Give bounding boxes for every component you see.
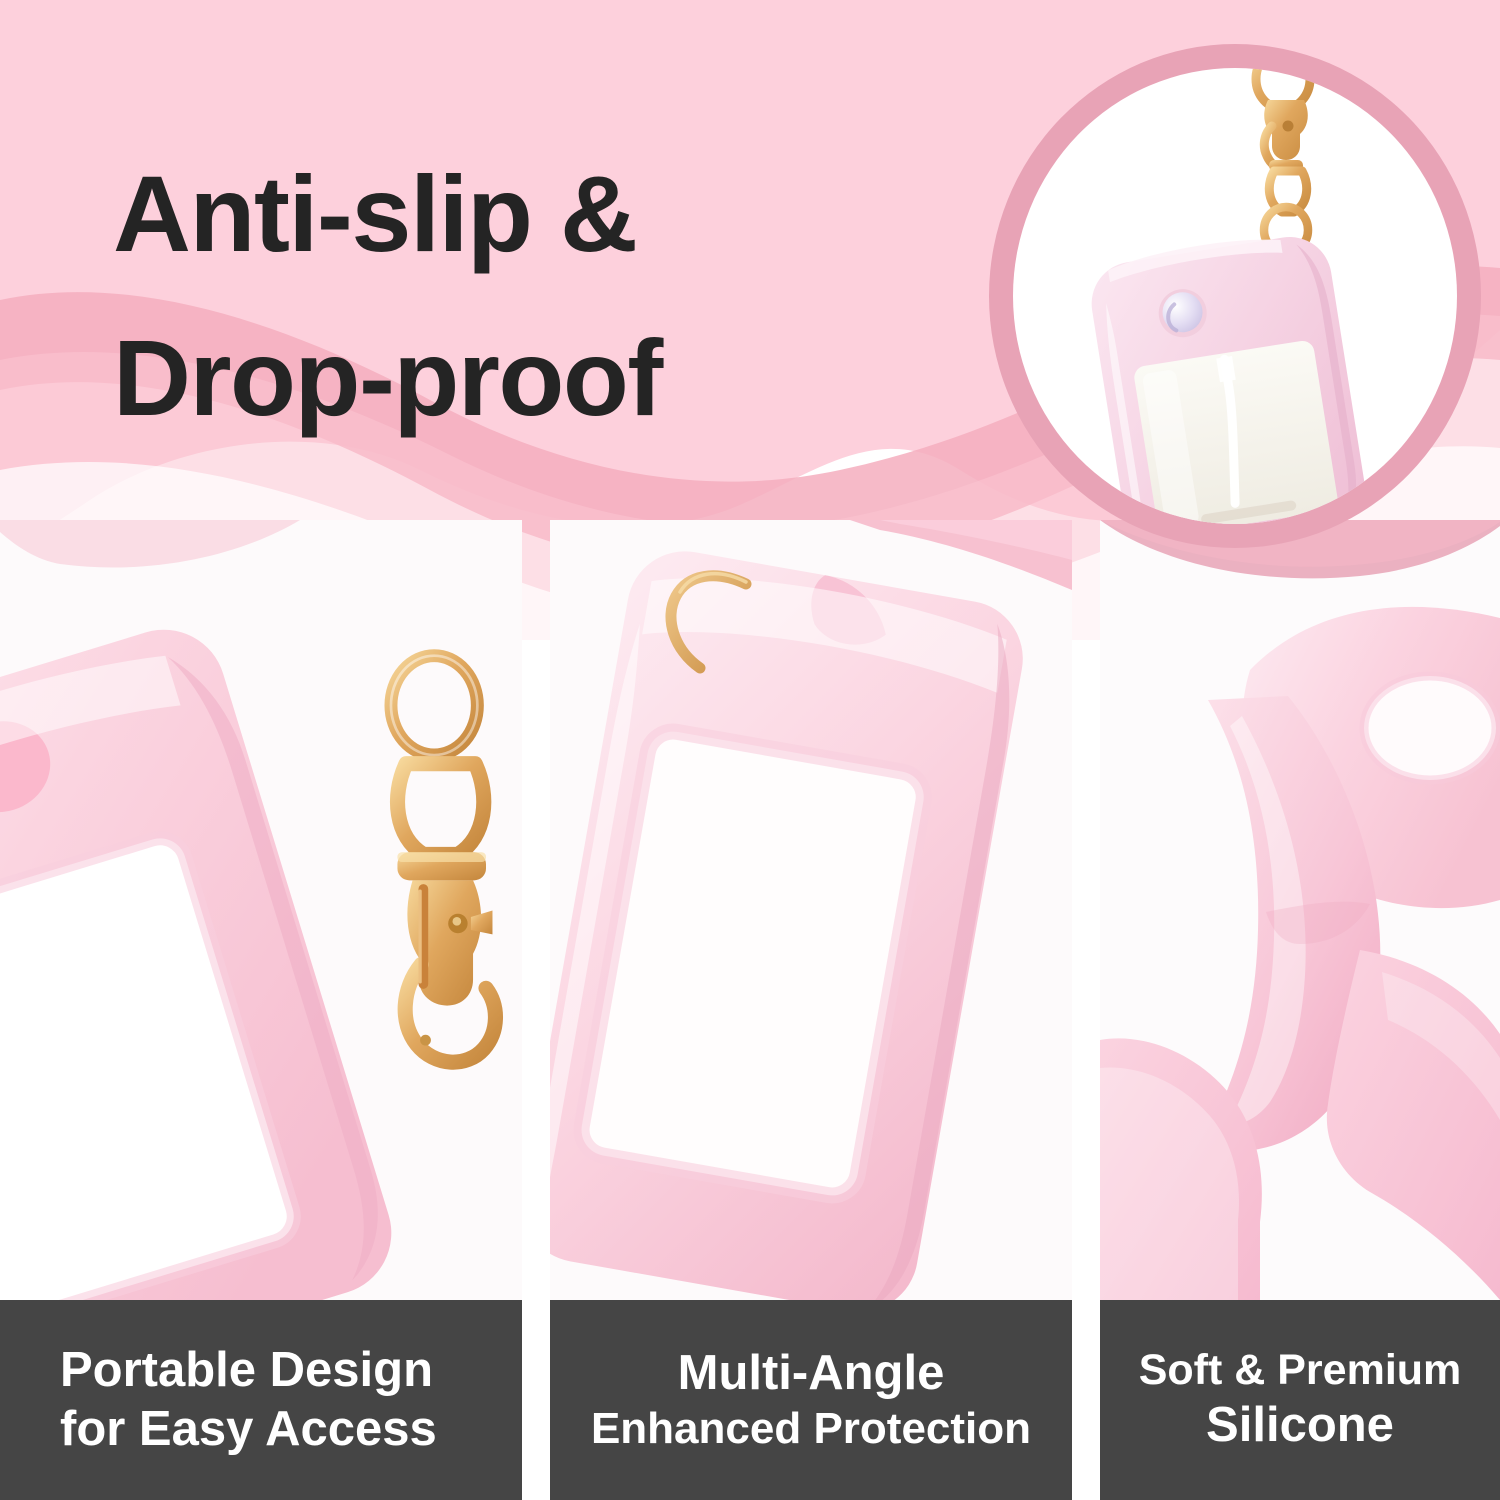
feature-panel-multi-angle[interactable]: Multi-Angle Enhanced Protection [550,520,1072,1500]
panel-photo-portable [0,520,522,1300]
page-title: Anti-slip & Drop-proof [113,132,903,460]
panel-caption-multi-angle: Multi-Angle Enhanced Protection [550,1300,1072,1500]
hero-product-badge [986,34,1484,594]
feature-panel-row: Portable Design for Easy Access [0,520,1500,1500]
feature-panel-portable[interactable]: Portable Design for Easy Access [0,520,522,1500]
caption-line-2: for Easy Access [60,1400,437,1459]
caption-line-2: Silicone [1206,1396,1394,1455]
feature-panel-silicone[interactable]: Soft & Premium Silicone [1100,520,1500,1500]
panel-photo-multi-angle [550,520,1072,1300]
silicone-case-angled-illustration [550,520,1072,1300]
caption-line-1: Multi-Angle [678,1344,945,1403]
product-inset-illustration [986,34,1484,594]
silicone-case-clasp-closeup-illustration [0,520,522,1300]
panel-photo-silicone [1100,520,1500,1300]
caption-line-1: Soft & Premium [1139,1345,1462,1397]
panel-caption-portable: Portable Design for Easy Access [0,1300,522,1500]
caption-line-2: Enhanced Protection [591,1403,1031,1456]
panel-caption-silicone: Soft & Premium Silicone [1100,1300,1500,1500]
caption-line-1: Portable Design [60,1341,433,1400]
infographic-root: Anti-slip & Drop-proof [0,0,1500,1500]
twisted-silicone-illustration [1100,520,1500,1300]
